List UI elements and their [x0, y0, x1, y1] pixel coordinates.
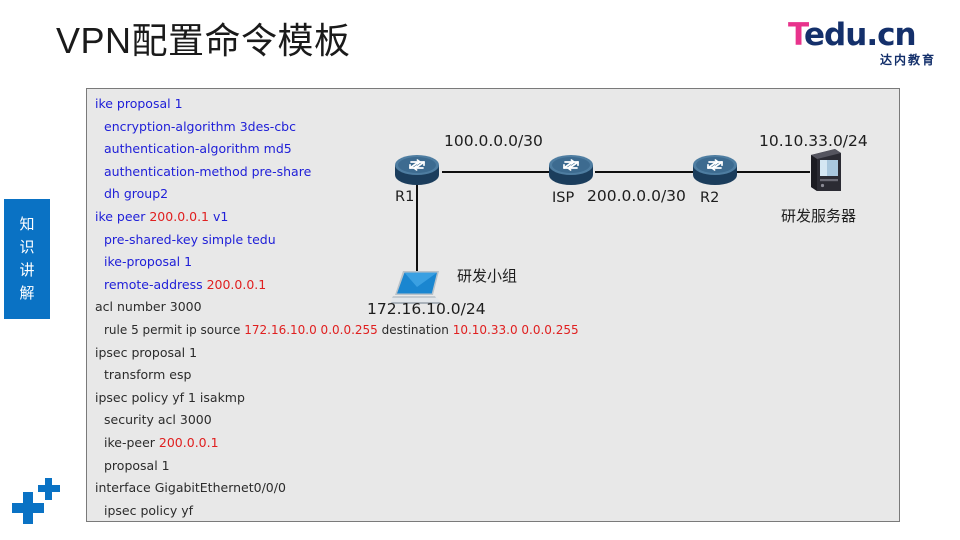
badge-char-2: 识	[19, 236, 34, 259]
network-diagram: R1 ISP	[87, 89, 901, 523]
brand-logo: Tedu.cn 达内教育	[788, 18, 938, 70]
logo-subtitle: 达内教育	[880, 51, 936, 68]
link-r2-server	[732, 171, 810, 173]
network-label-isp-r2: 200.0.0.0/30	[587, 187, 686, 205]
server-label: 研发服务器	[781, 205, 856, 226]
router-r2-label: R2	[700, 190, 719, 206]
router-isp-label: ISP	[552, 190, 574, 206]
logo-letter-t: T	[788, 17, 804, 53]
router-r1-icon	[393, 151, 441, 187]
router-r2-icon	[691, 151, 739, 187]
content-panel: ike proposal 1encryption-algorithm 3des-…	[86, 88, 900, 522]
server-icon	[807, 147, 843, 193]
badge-char-3: 讲	[19, 259, 34, 282]
badge-char-4: 解	[19, 282, 34, 305]
network-label-r1-isp: 100.0.0.0/30	[444, 132, 543, 150]
network-label-client-lan: 172.16.10.0/24	[367, 300, 486, 318]
laptop-label: 研发小组	[457, 265, 517, 286]
section-badge: 知 识 讲 解	[4, 199, 50, 319]
router-isp-icon	[547, 151, 595, 187]
page-title: VPN配置命令模板	[56, 16, 351, 66]
slide-root: VPN配置命令模板 Tedu.cn 达内教育 知 识 讲 解 ike propo…	[0, 0, 960, 540]
network-label-server-lan: 10.10.33.0/24	[759, 132, 868, 150]
logo-wordmark: Tedu.cn	[788, 18, 938, 52]
plus-decoration-small-icon	[38, 478, 60, 500]
badge-char-1: 知	[19, 213, 34, 236]
link-r1-laptop	[416, 173, 418, 273]
logo-word-rest: edu.cn	[804, 17, 916, 53]
router-r1-label: R1	[395, 189, 414, 205]
